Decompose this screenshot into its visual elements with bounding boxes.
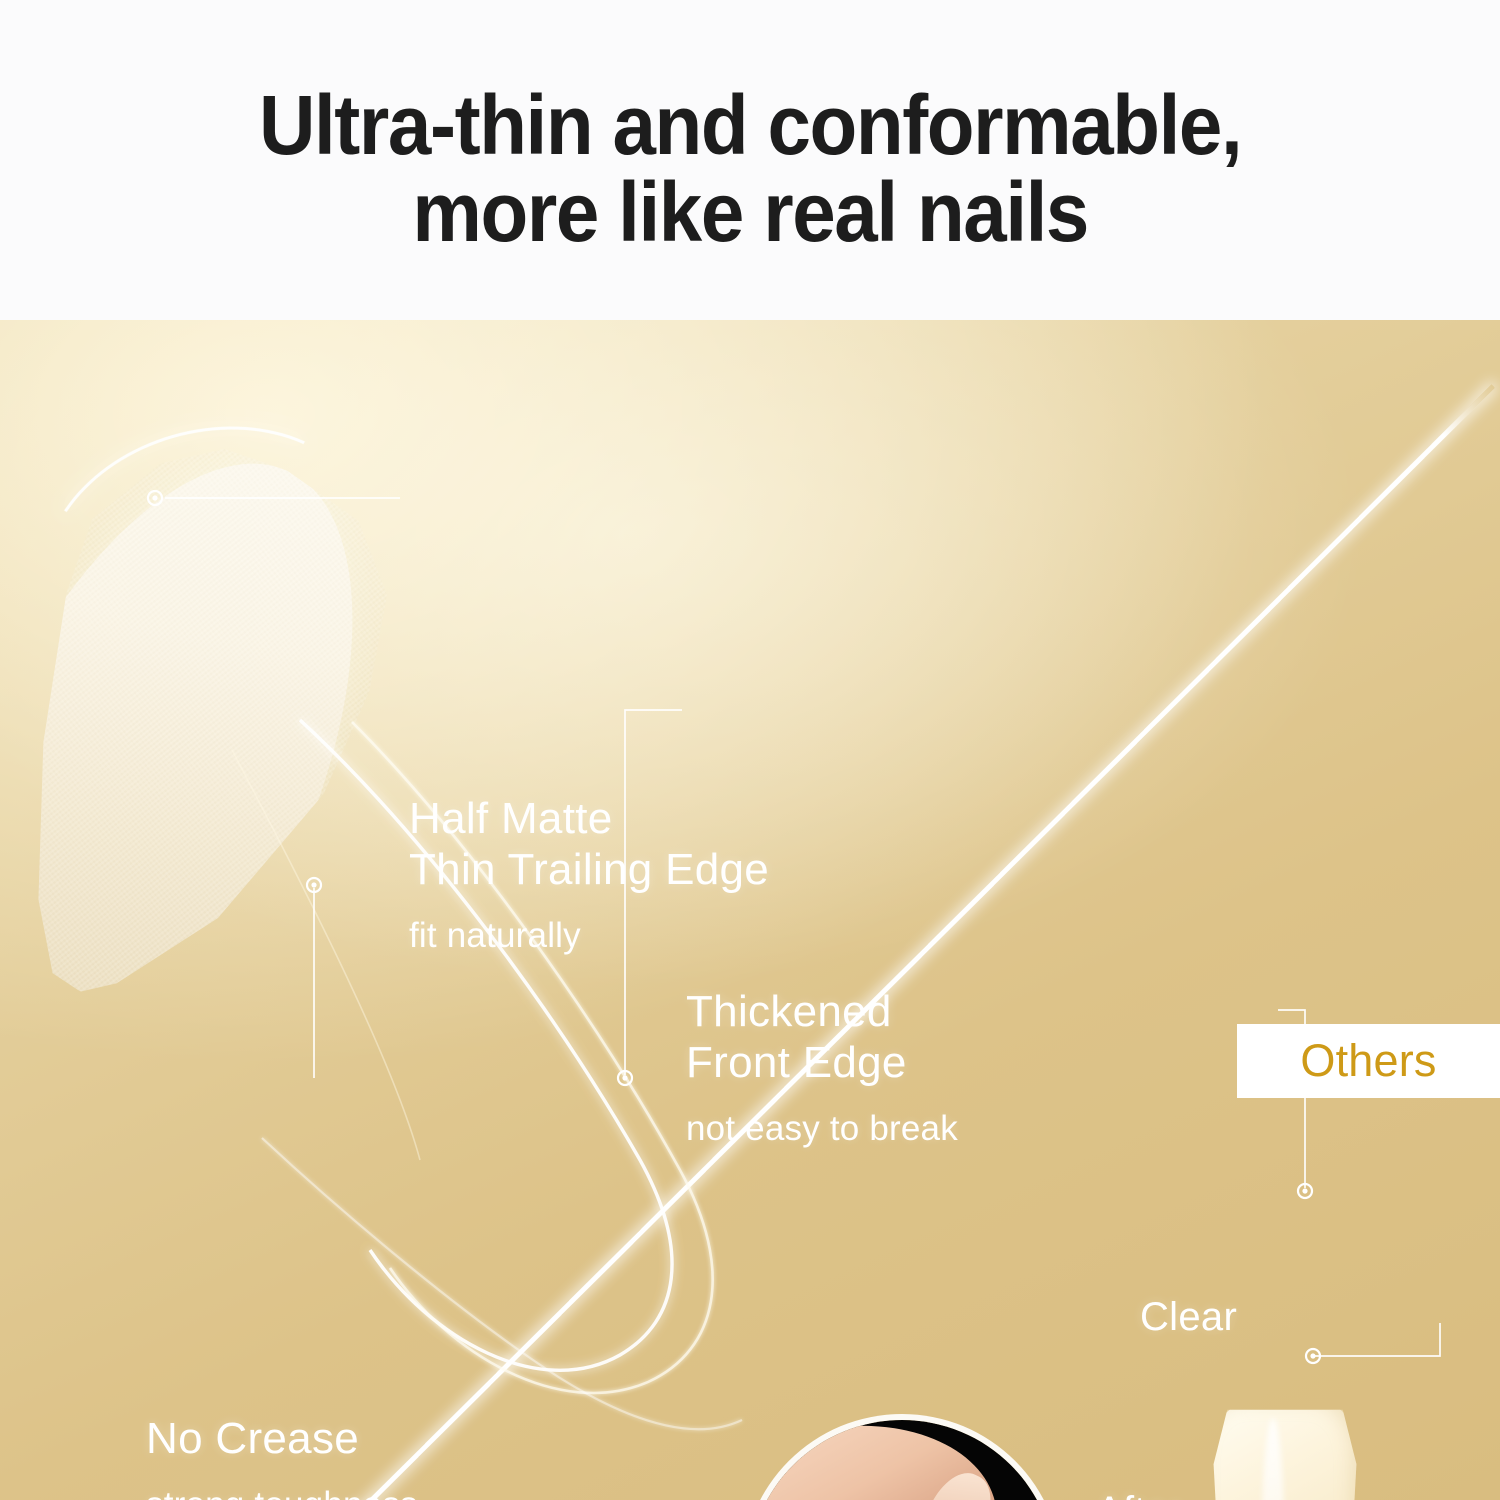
callout-clear: Clear bbox=[1140, 1294, 1237, 1340]
headline-line-2: more like real nails bbox=[412, 169, 1088, 256]
header-banner: Ultra-thin and conformable, more like re… bbox=[0, 0, 1500, 320]
callout-thickened-subtitle: not easy to break bbox=[686, 1108, 958, 1150]
callout-after-bend: After Bend bbox=[1096, 1488, 1191, 1500]
callout-no-crease: No Crease strong toughness bbox=[146, 1413, 418, 1500]
callout-thickened-title-2: Front Edge bbox=[686, 1037, 958, 1088]
nail-matte-texture bbox=[0, 404, 438, 1050]
leader-dot-clear bbox=[1298, 1184, 1312, 1198]
leader-dot-no-crease bbox=[307, 878, 321, 892]
modelones-nail-illustration bbox=[0, 404, 438, 1050]
callout-half-matte: Half Matte Thin Trailing Edge fit natura… bbox=[409, 793, 769, 957]
headline-line-1: Ultra-thin and conformable, bbox=[259, 82, 1241, 169]
comparison-panel: Half Matte Thin Trailing Edge fit natura… bbox=[0, 320, 1500, 1500]
photo-ring-border bbox=[748, 1420, 1056, 1500]
bend-demo-photo bbox=[748, 1420, 1056, 1500]
callout-half-matte-subtitle: fit naturally bbox=[409, 915, 769, 957]
callout-after-bend-line-1: After bbox=[1096, 1488, 1191, 1500]
callout-half-matte-title-1: Half Matte bbox=[409, 793, 769, 844]
others-abs-nail-illustration bbox=[1209, 1402, 1361, 1500]
callout-thickened-title-1: Thickened bbox=[686, 986, 958, 1037]
leader-dot-thickened-front-edge bbox=[618, 1071, 632, 1085]
badge-others: Others bbox=[1237, 1024, 1500, 1098]
callout-no-crease-title: No Crease bbox=[146, 1413, 418, 1464]
callout-half-matte-title-2: Thin Trailing Edge bbox=[409, 844, 769, 895]
callout-clear-label: Clear bbox=[1140, 1294, 1237, 1340]
callout-no-crease-subtitle: strong toughness bbox=[146, 1484, 418, 1500]
abs-nail-body bbox=[1209, 1402, 1361, 1500]
leader-abs bbox=[1315, 1323, 1440, 1356]
callout-thickened-front-edge: Thickened Front Edge not easy to break bbox=[686, 986, 958, 1150]
product-infographic: Ultra-thin and conformable, more like re… bbox=[0, 0, 1500, 1500]
badge-others-label: Others bbox=[1300, 1035, 1436, 1087]
leader-dot-abs bbox=[1306, 1349, 1320, 1363]
